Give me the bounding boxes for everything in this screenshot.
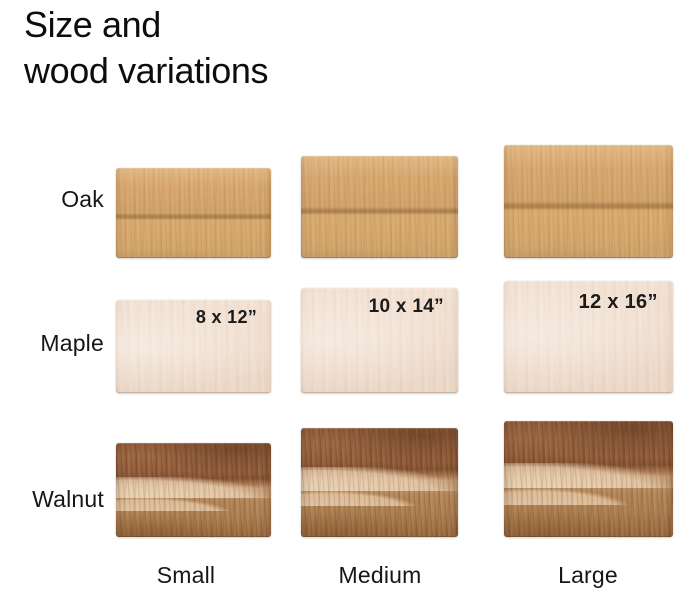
column-label-large: Large xyxy=(528,562,648,589)
column-label-small: Small xyxy=(126,562,246,589)
wood-sheen xyxy=(504,145,673,258)
board-walnut-large[interactable] xyxy=(504,421,673,537)
board-walnut-small[interactable] xyxy=(116,443,271,537)
wood-grain-texture xyxy=(504,145,673,258)
page-title: Size and wood variations xyxy=(24,2,444,94)
wood-seam-line xyxy=(301,156,458,258)
board-maple-small[interactable]: 8 x 12” xyxy=(116,300,271,393)
board-maple-large[interactable]: 12 x 16” xyxy=(504,281,673,393)
board-walnut-medium[interactable] xyxy=(301,428,458,537)
wood-grain-texture xyxy=(301,156,458,258)
walnut-sapwood-core xyxy=(504,463,673,489)
board-oak-large[interactable] xyxy=(504,145,673,258)
wood-sheen xyxy=(116,168,271,258)
board-edge xyxy=(504,145,673,258)
size-label-small: 8 x 12” xyxy=(196,307,257,328)
walnut-sapwood-core xyxy=(301,467,458,491)
size-label-large: 12 x 16” xyxy=(579,291,658,314)
wood-sheen xyxy=(301,156,458,258)
column-label-medium: Medium xyxy=(318,562,442,589)
board-edge xyxy=(116,168,271,258)
row-label-walnut: Walnut xyxy=(0,486,104,513)
wood-seam-line xyxy=(116,168,271,258)
board-maple-medium[interactable]: 10 x 14” xyxy=(301,288,458,393)
walnut-sapwood-core xyxy=(116,477,271,498)
board-oak-medium[interactable] xyxy=(301,156,458,258)
size-label-medium: 10 x 14” xyxy=(369,296,444,318)
board-oak-small[interactable] xyxy=(116,168,271,258)
board-edge xyxy=(301,156,458,258)
row-label-maple: Maple xyxy=(0,330,104,357)
wood-grain-texture xyxy=(116,168,271,258)
row-label-oak: Oak xyxy=(0,186,104,213)
wood-seam-line xyxy=(504,145,673,258)
